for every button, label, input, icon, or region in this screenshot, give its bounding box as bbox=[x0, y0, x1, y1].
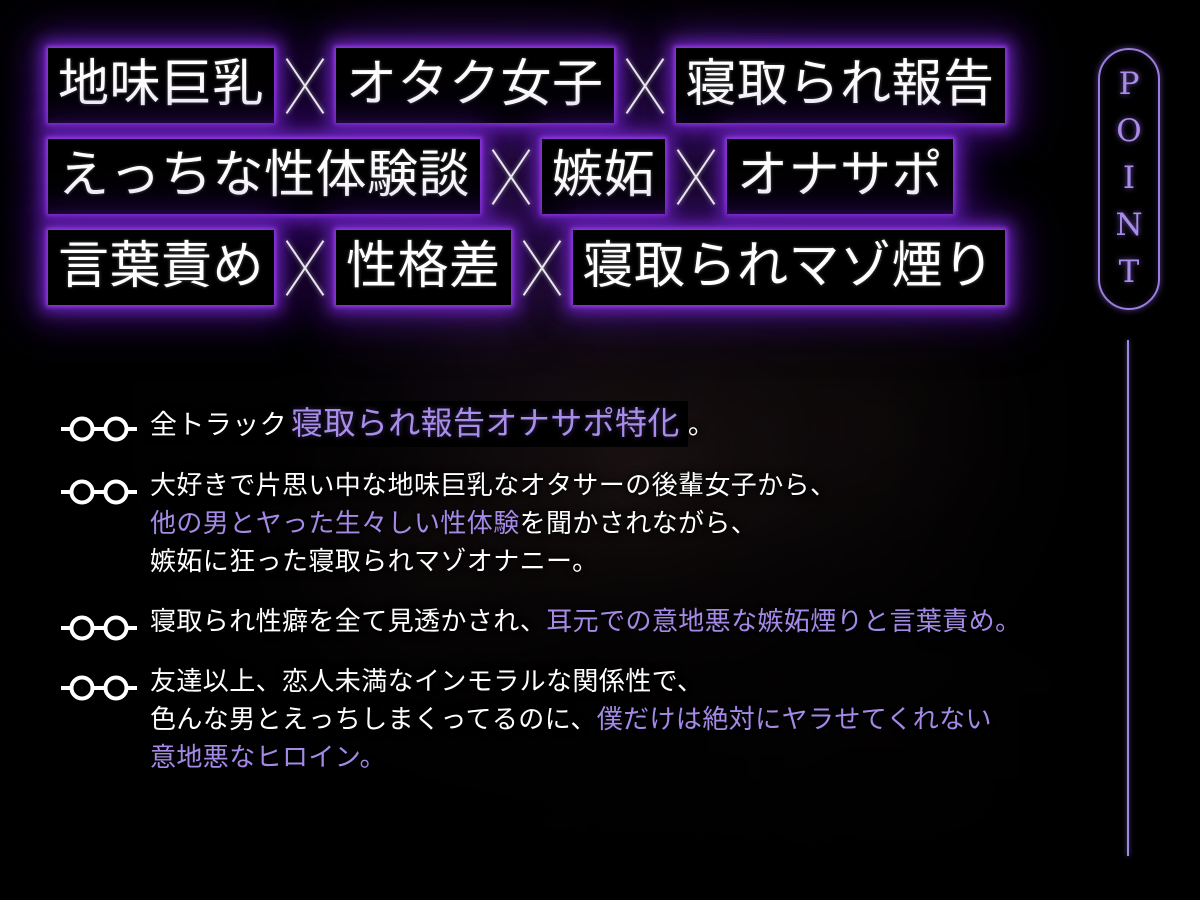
point-bullet-item: 寝取られ性癖を全て見透かされ、耳元での意地悪な嫉妬煙りと言葉責め。 bbox=[58, 603, 1118, 641]
bullet-text-highlight: 他の男とヤった生々しい性体験 bbox=[150, 509, 520, 539]
cross-separator-icon bbox=[665, 148, 727, 206]
glasses-icon bbox=[58, 414, 140, 444]
cross-separator-icon bbox=[274, 57, 336, 115]
bullet-line: 色んな男とえっちしまくってるのに、僕だけは絶対にヤラせてくれない bbox=[150, 701, 1118, 739]
glasses-icon bbox=[58, 414, 140, 444]
bullet-text: 寝取られ性癖を全て見透かされ、 bbox=[150, 607, 546, 637]
point-bullet-item: 友達以上、恋人未満なインモラルな関係性で、色んな男とえっちしまくってるのに、僕だ… bbox=[58, 663, 1118, 777]
headline-chip: 寝取られ報告 bbox=[676, 48, 1005, 123]
glasses-icon bbox=[58, 673, 140, 703]
cross-separator-icon bbox=[614, 57, 676, 115]
bullet-text: 。 bbox=[688, 410, 715, 441]
point-badge-label: POINT bbox=[1111, 58, 1147, 301]
glasses-icon bbox=[58, 477, 140, 507]
headline-chip: 嫉妬 bbox=[542, 139, 665, 214]
headline-chip: オナサポ bbox=[727, 139, 953, 214]
point-bullet-list: 全トラック寝取られ報告オナサポ特化。大好きで片思い中な地味巨乳なオタサーの後輩女… bbox=[58, 404, 1118, 799]
headline-chip: 性格差 bbox=[336, 230, 511, 305]
cross-separator-icon bbox=[274, 239, 336, 297]
bullet-line: 嫉妬に狂った寝取られマゾオナニー。 bbox=[150, 543, 1118, 581]
bullet-text: 全トラック bbox=[150, 410, 287, 441]
headline-block: 地味巨乳オタク女子寝取られ報告えっちな性体験談嫉妬オナサポ言葉責め性格差寝取られ… bbox=[48, 48, 1048, 321]
bullet-line: 大好きで片思い中な地味巨乳なオタサーの後輩女子から、 bbox=[150, 467, 1118, 505]
glasses-icon bbox=[58, 673, 140, 703]
headline-row: 地味巨乳オタク女子寝取られ報告 bbox=[48, 48, 1048, 123]
bullet-text: 大好きで片思い中な地味巨乳なオタサーの後輩女子から、 bbox=[150, 471, 836, 501]
bullet-text: 友達以上、恋人未満なインモラルな関係性で、 bbox=[150, 667, 703, 697]
headline-chip: えっちな性体験談 bbox=[48, 139, 480, 214]
glasses-icon bbox=[58, 613, 140, 643]
bullet-line: 意地悪なヒロイン。 bbox=[150, 739, 1118, 777]
glasses-icon bbox=[58, 613, 140, 643]
point-bullet-item: 大好きで片思い中な地味巨乳なオタサーの後輩女子から、他の男とヤった生々しい性体験… bbox=[58, 467, 1118, 581]
headline-row: 言葉責め性格差寝取られマゾ煙り bbox=[48, 230, 1048, 305]
bullet-text-highlight: 僕だけは絶対にヤラせてくれない bbox=[597, 705, 992, 735]
bullet-line: 友達以上、恋人未満なインモラルな関係性で、 bbox=[150, 663, 1118, 701]
bullet-text-highlight: 意地悪なヒロイン。 bbox=[150, 743, 386, 773]
bullet-line: 他の男とヤった生々しい性体験を聞かされながら、 bbox=[150, 505, 1118, 543]
headline-chip: 言葉責め bbox=[48, 230, 274, 305]
point-divider-rule bbox=[1127, 340, 1129, 856]
bullet-line: 寝取られ性癖を全て見透かされ、耳元での意地悪な嫉妬煙りと言葉責め。 bbox=[150, 603, 1118, 641]
headline-chip: 寝取られマゾ煙り bbox=[573, 230, 1005, 305]
bullet-text-highlight: 耳元での意地悪な嫉妬煙りと言葉責め。 bbox=[546, 607, 1021, 637]
bullet-text: 色んな男とえっちしまくってるのに、 bbox=[150, 705, 597, 735]
headline-chip: 地味巨乳 bbox=[48, 48, 274, 123]
bullet-text: を聞かされながら、 bbox=[520, 509, 758, 539]
bullet-text: 嫉妬に狂った寝取られマゾオナニー。 bbox=[150, 547, 599, 577]
point-bullet-item: 全トラック寝取られ報告オナサポ特化。 bbox=[58, 404, 1118, 445]
glasses-icon bbox=[58, 477, 140, 507]
cross-separator-icon bbox=[511, 239, 573, 297]
bullet-text-highlight: 寝取られ報告オナサポ特化 bbox=[287, 401, 688, 447]
point-badge: POINT bbox=[1098, 48, 1160, 310]
headline-chip: オタク女子 bbox=[336, 48, 614, 123]
bullet-line: 全トラック寝取られ報告オナサポ特化。 bbox=[150, 404, 1118, 445]
headline-row: えっちな性体験談嫉妬オナサポ bbox=[48, 139, 1048, 214]
promo-banner: 地味巨乳オタク女子寝取られ報告えっちな性体験談嫉妬オナサポ言葉責め性格差寝取られ… bbox=[0, 0, 1200, 900]
cross-separator-icon bbox=[480, 148, 542, 206]
